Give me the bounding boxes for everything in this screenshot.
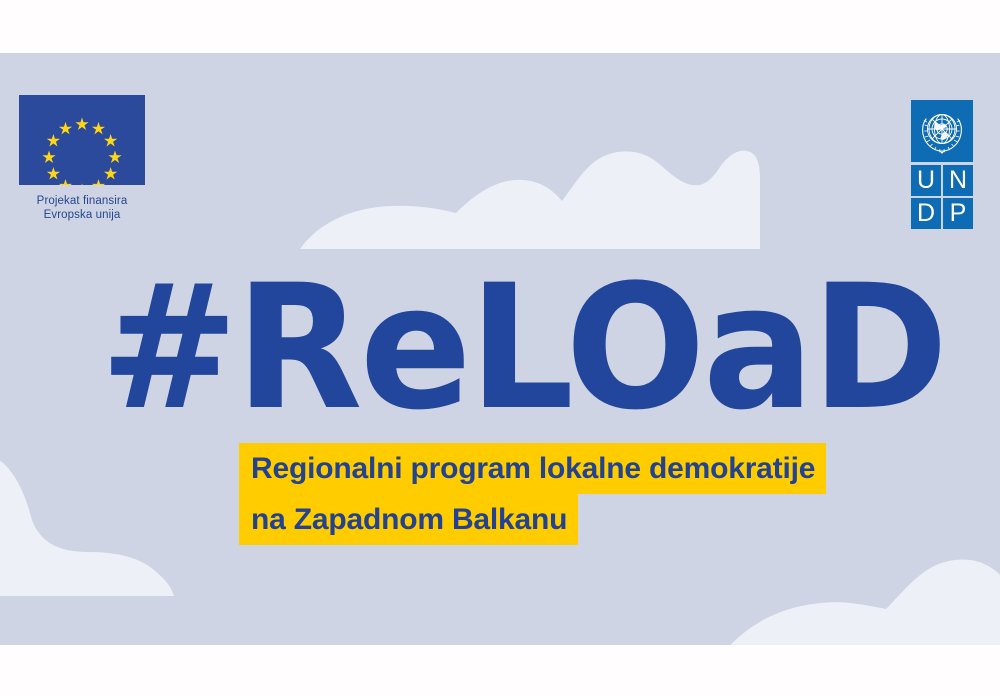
undp-letter-grid: U N D P [911,165,973,229]
united-nations-emblem-icon [911,100,973,162]
subtitle-line-2: na Zapadnom Balkanu [239,494,578,545]
page-title: #ReLOaD [100,262,868,434]
undp-letter-u: U [911,165,941,196]
cloud-top-icon [300,115,760,255]
european-union-flag-icon [19,95,145,185]
undp-logo-block: U N D P [911,100,973,229]
undp-letter-d: D [911,198,941,229]
subtitle-line-1: Regionalni program lokalne demokratije [239,443,826,494]
undp-letter-p: P [943,198,973,229]
subtitle-block: Regionalni program lokalne demokratije n… [239,443,879,545]
eu-logo-block: Projekat finansira Evropska unija [19,95,145,222]
cloud-right-icon [700,533,1000,645]
undp-letter-n: N [943,165,973,196]
eu-funding-caption: Projekat finansira Evropska unija [19,194,145,222]
eu-caption-line-1: Projekat finansira [19,194,145,208]
eu-caption-line-2: Evropska unija [19,208,145,222]
reload-banner: Projekat finansira Evropska unija [0,0,1000,697]
